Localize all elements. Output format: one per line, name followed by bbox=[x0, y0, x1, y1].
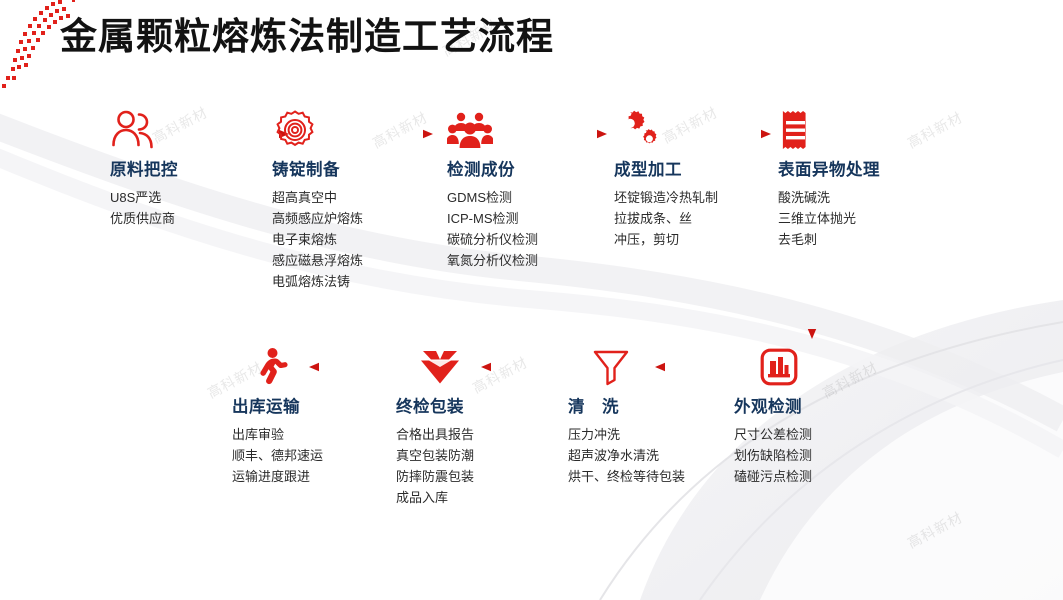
step-detail-line: 电弧熔炼法铸 bbox=[272, 271, 447, 292]
step-detail-line: 高频感应炉熔炼 bbox=[272, 208, 447, 229]
step-detail-line: 划伤缺陷检测 bbox=[734, 445, 909, 466]
step-detail-line: 压力冲洗 bbox=[568, 424, 688, 445]
process-step-raw-material[interactable]: 原料把控 U8S严选 优质供应商 bbox=[110, 108, 285, 229]
step-detail-list: 合格出具报告 真空包装防潮 防摔防震包装 成品入库 bbox=[396, 424, 571, 508]
step-detail-line: 优质供应商 bbox=[110, 208, 285, 229]
step-detail-line: GDMS检测 bbox=[447, 187, 622, 208]
step-detail-list: 酸洗碱洗 三维立体抛光 去毛刺 bbox=[778, 187, 953, 250]
step-title: 外观检测 bbox=[734, 397, 909, 418]
step-detail-line: 冲压，剪切 bbox=[614, 229, 789, 250]
step-detail-line: 电子束熔炼 bbox=[272, 229, 447, 250]
process-flow-top-row: 原料把控 U8S严选 优质供应商 铸锭制备 超高真空中 高频感应炉熔炼 bbox=[0, 108, 1063, 288]
step-title: 终检包装 bbox=[396, 397, 571, 418]
step-detail-list: GDMS检测 ICP-MS检测 碳硫分析仪检测 氧氮分析仪检测 bbox=[447, 187, 622, 271]
process-step-appearance-inspection[interactable]: 外观检测 尺寸公差检测 划伤缺陷检测 磕碰污点检测 bbox=[734, 345, 909, 487]
arrow-right-icon bbox=[536, 128, 608, 140]
step-title: 检测成份 bbox=[447, 160, 622, 181]
factory-inspect-icon bbox=[734, 345, 909, 389]
step-detail-line: 烘干、终检等待包装 bbox=[568, 466, 688, 487]
step-detail-line: 运输进度跟进 bbox=[232, 466, 407, 487]
step-detail-list: 尺寸公差检测 划伤缺陷检测 磕碰污点检测 bbox=[734, 424, 909, 487]
arrow-left-icon bbox=[308, 361, 380, 373]
step-title: 出库运输 bbox=[232, 397, 407, 418]
step-title: 铸锭制备 bbox=[272, 160, 447, 181]
step-detail-line: 拉拔成条、丝 bbox=[614, 208, 789, 229]
step-detail-line: 去毛刺 bbox=[778, 229, 953, 250]
arrow-left-icon bbox=[654, 361, 742, 373]
step-detail-line: 感应磁悬浮熔炼 bbox=[272, 250, 447, 271]
step-detail-line: 超声波净水清洗 bbox=[568, 445, 688, 466]
step-detail-line: 酸洗碱洗 bbox=[778, 187, 953, 208]
process-flow-bottom-row: 出库运输 出库审验 顺丰、德邦速运 运输进度跟进 bbox=[0, 345, 1063, 525]
arrow-down-icon bbox=[806, 262, 818, 340]
step-detail-list: 坯锭锻造冷热轧制 拉拔成条、丝 冲压，剪切 bbox=[614, 187, 789, 250]
step-detail-line: 成品入库 bbox=[396, 487, 571, 508]
step-title: 原料把控 bbox=[110, 160, 285, 181]
step-detail-line: 合格出具报告 bbox=[396, 424, 571, 445]
step-title: 清 洗 bbox=[568, 397, 743, 418]
step-detail-line: 坯锭锻造冷热轧制 bbox=[614, 187, 789, 208]
step-title: 成型加工 bbox=[614, 160, 789, 181]
step-detail-line: U8S严选 bbox=[110, 187, 285, 208]
step-detail-line: ICP-MS检测 bbox=[447, 208, 622, 229]
step-detail-list: 出库审验 顺丰、德邦速运 运输进度跟进 bbox=[232, 424, 407, 487]
step-detail-list: U8S严选 优质供应商 bbox=[110, 187, 285, 229]
arrow-right-icon bbox=[362, 128, 434, 140]
step-detail-line: 超高真空中 bbox=[272, 187, 447, 208]
step-detail-list: 超高真空中 高频感应炉熔炼 电子束熔炼 感应磁悬浮熔炼 电弧熔炼法铸 bbox=[272, 187, 447, 292]
arrow-left-icon bbox=[480, 361, 564, 373]
process-step-surface-treatment[interactable]: 表面异物处理 酸洗碱洗 三维立体抛光 去毛刺 bbox=[778, 108, 953, 250]
step-detail-line: 出库审验 bbox=[232, 424, 407, 445]
step-detail-line: 三维立体抛光 bbox=[778, 208, 953, 229]
step-detail-list: 压力冲洗 超声波净水清洗 烘干、终检等待包装 bbox=[568, 424, 688, 487]
step-detail-line: 防摔防震包装 bbox=[396, 466, 571, 487]
receipt-document-icon bbox=[778, 108, 953, 152]
step-detail-line: 尺寸公差检测 bbox=[734, 424, 909, 445]
page-title: 金属颗粒熔炼法制造工艺流程 bbox=[60, 6, 554, 60]
step-detail-line: 顺丰、德邦速运 bbox=[232, 445, 407, 466]
step-detail-line: 磕碰污点检测 bbox=[734, 466, 909, 487]
step-detail-line: 碳硫分析仪检测 bbox=[447, 229, 622, 250]
step-title: 表面异物处理 bbox=[778, 160, 953, 181]
arrow-right-icon bbox=[700, 128, 772, 140]
step-detail-line: 氧氮分析仪检测 bbox=[447, 250, 622, 271]
step-detail-line: 真空包装防潮 bbox=[396, 445, 571, 466]
